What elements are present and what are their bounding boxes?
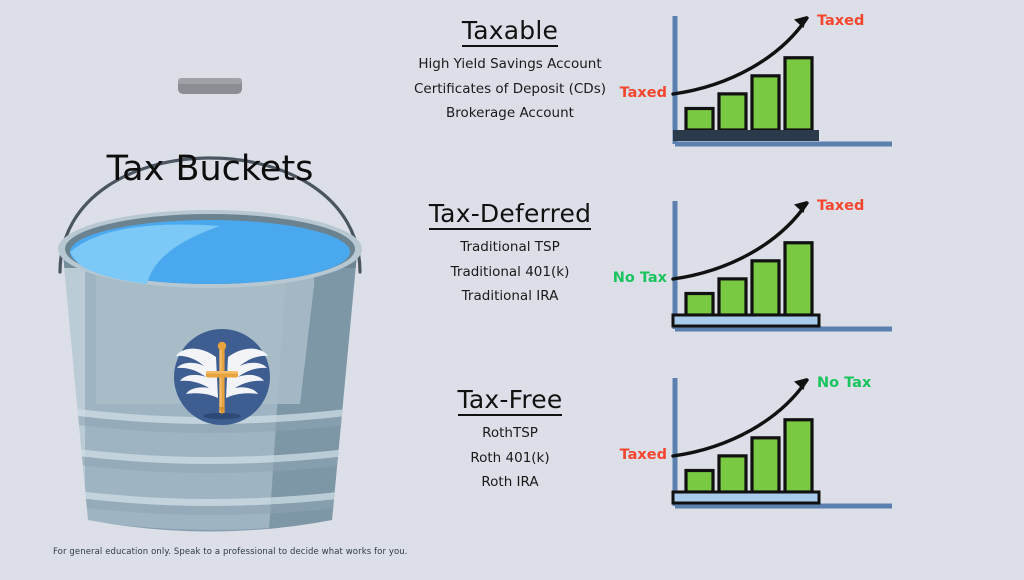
list-item: Roth 401(k) <box>395 452 625 466</box>
tax-bucket-illustration: Tax Buckets <box>0 0 420 576</box>
bar <box>785 420 812 492</box>
list-item: Roth IRA <box>395 476 625 490</box>
chart-taxable: Taxed Taxed <box>612 8 912 168</box>
withdrawal-label: Taxed <box>817 13 864 29</box>
disclaimer-note: For general education only. Speak to a p… <box>53 547 408 557</box>
base-plate <box>673 130 819 141</box>
bar <box>752 261 779 315</box>
bar <box>686 109 713 131</box>
group-title-tax-free: Tax-Free <box>458 387 563 416</box>
contribution-label: Taxed <box>620 85 667 101</box>
list-item: Traditional IRA <box>395 290 625 304</box>
bar <box>752 438 779 492</box>
bar <box>719 279 746 315</box>
list-item: High Yield Savings Account <box>395 58 625 72</box>
group-tax-deferred: Tax-Deferred Traditional TSP Traditional… <box>395 201 625 304</box>
bar <box>686 294 713 316</box>
bar <box>686 471 713 493</box>
contribution-label: No Tax <box>613 270 668 286</box>
chart-tax-free: Taxed No Tax <box>612 370 912 530</box>
list-item: Certificates of Deposit (CDs) <box>395 83 625 97</box>
contribution-label: Taxed <box>620 447 667 463</box>
bar <box>719 94 746 130</box>
group-title-tax-deferred: Tax-Deferred <box>429 201 591 230</box>
list-item: Traditional 401(k) <box>395 266 625 280</box>
slide-canvas: Tax Buckets Taxable High Yield Savings A… <box>0 0 1024 576</box>
group-tax-free: Tax-Free RothTSP Roth 401(k) Roth IRA <box>395 387 625 490</box>
list-item: RothTSP <box>395 427 625 441</box>
bar <box>785 58 812 130</box>
withdrawal-label: Taxed <box>817 198 864 214</box>
group-title-taxable: Taxable <box>462 18 558 47</box>
base-plate <box>673 315 819 326</box>
withdrawal-label: No Tax <box>817 375 872 391</box>
group-taxable: Taxable High Yield Savings Account Certi… <box>395 18 625 121</box>
bar <box>785 243 812 315</box>
bar <box>752 76 779 130</box>
winged-sword-emblem <box>174 329 270 425</box>
base-plate <box>673 492 819 503</box>
bar <box>719 456 746 492</box>
chart-tax-deferred: No Tax Taxed <box>612 193 912 353</box>
list-item: Traditional TSP <box>395 241 625 255</box>
bucket-title: Tax Buckets <box>106 149 314 189</box>
list-item: Brokerage Account <box>395 107 625 121</box>
